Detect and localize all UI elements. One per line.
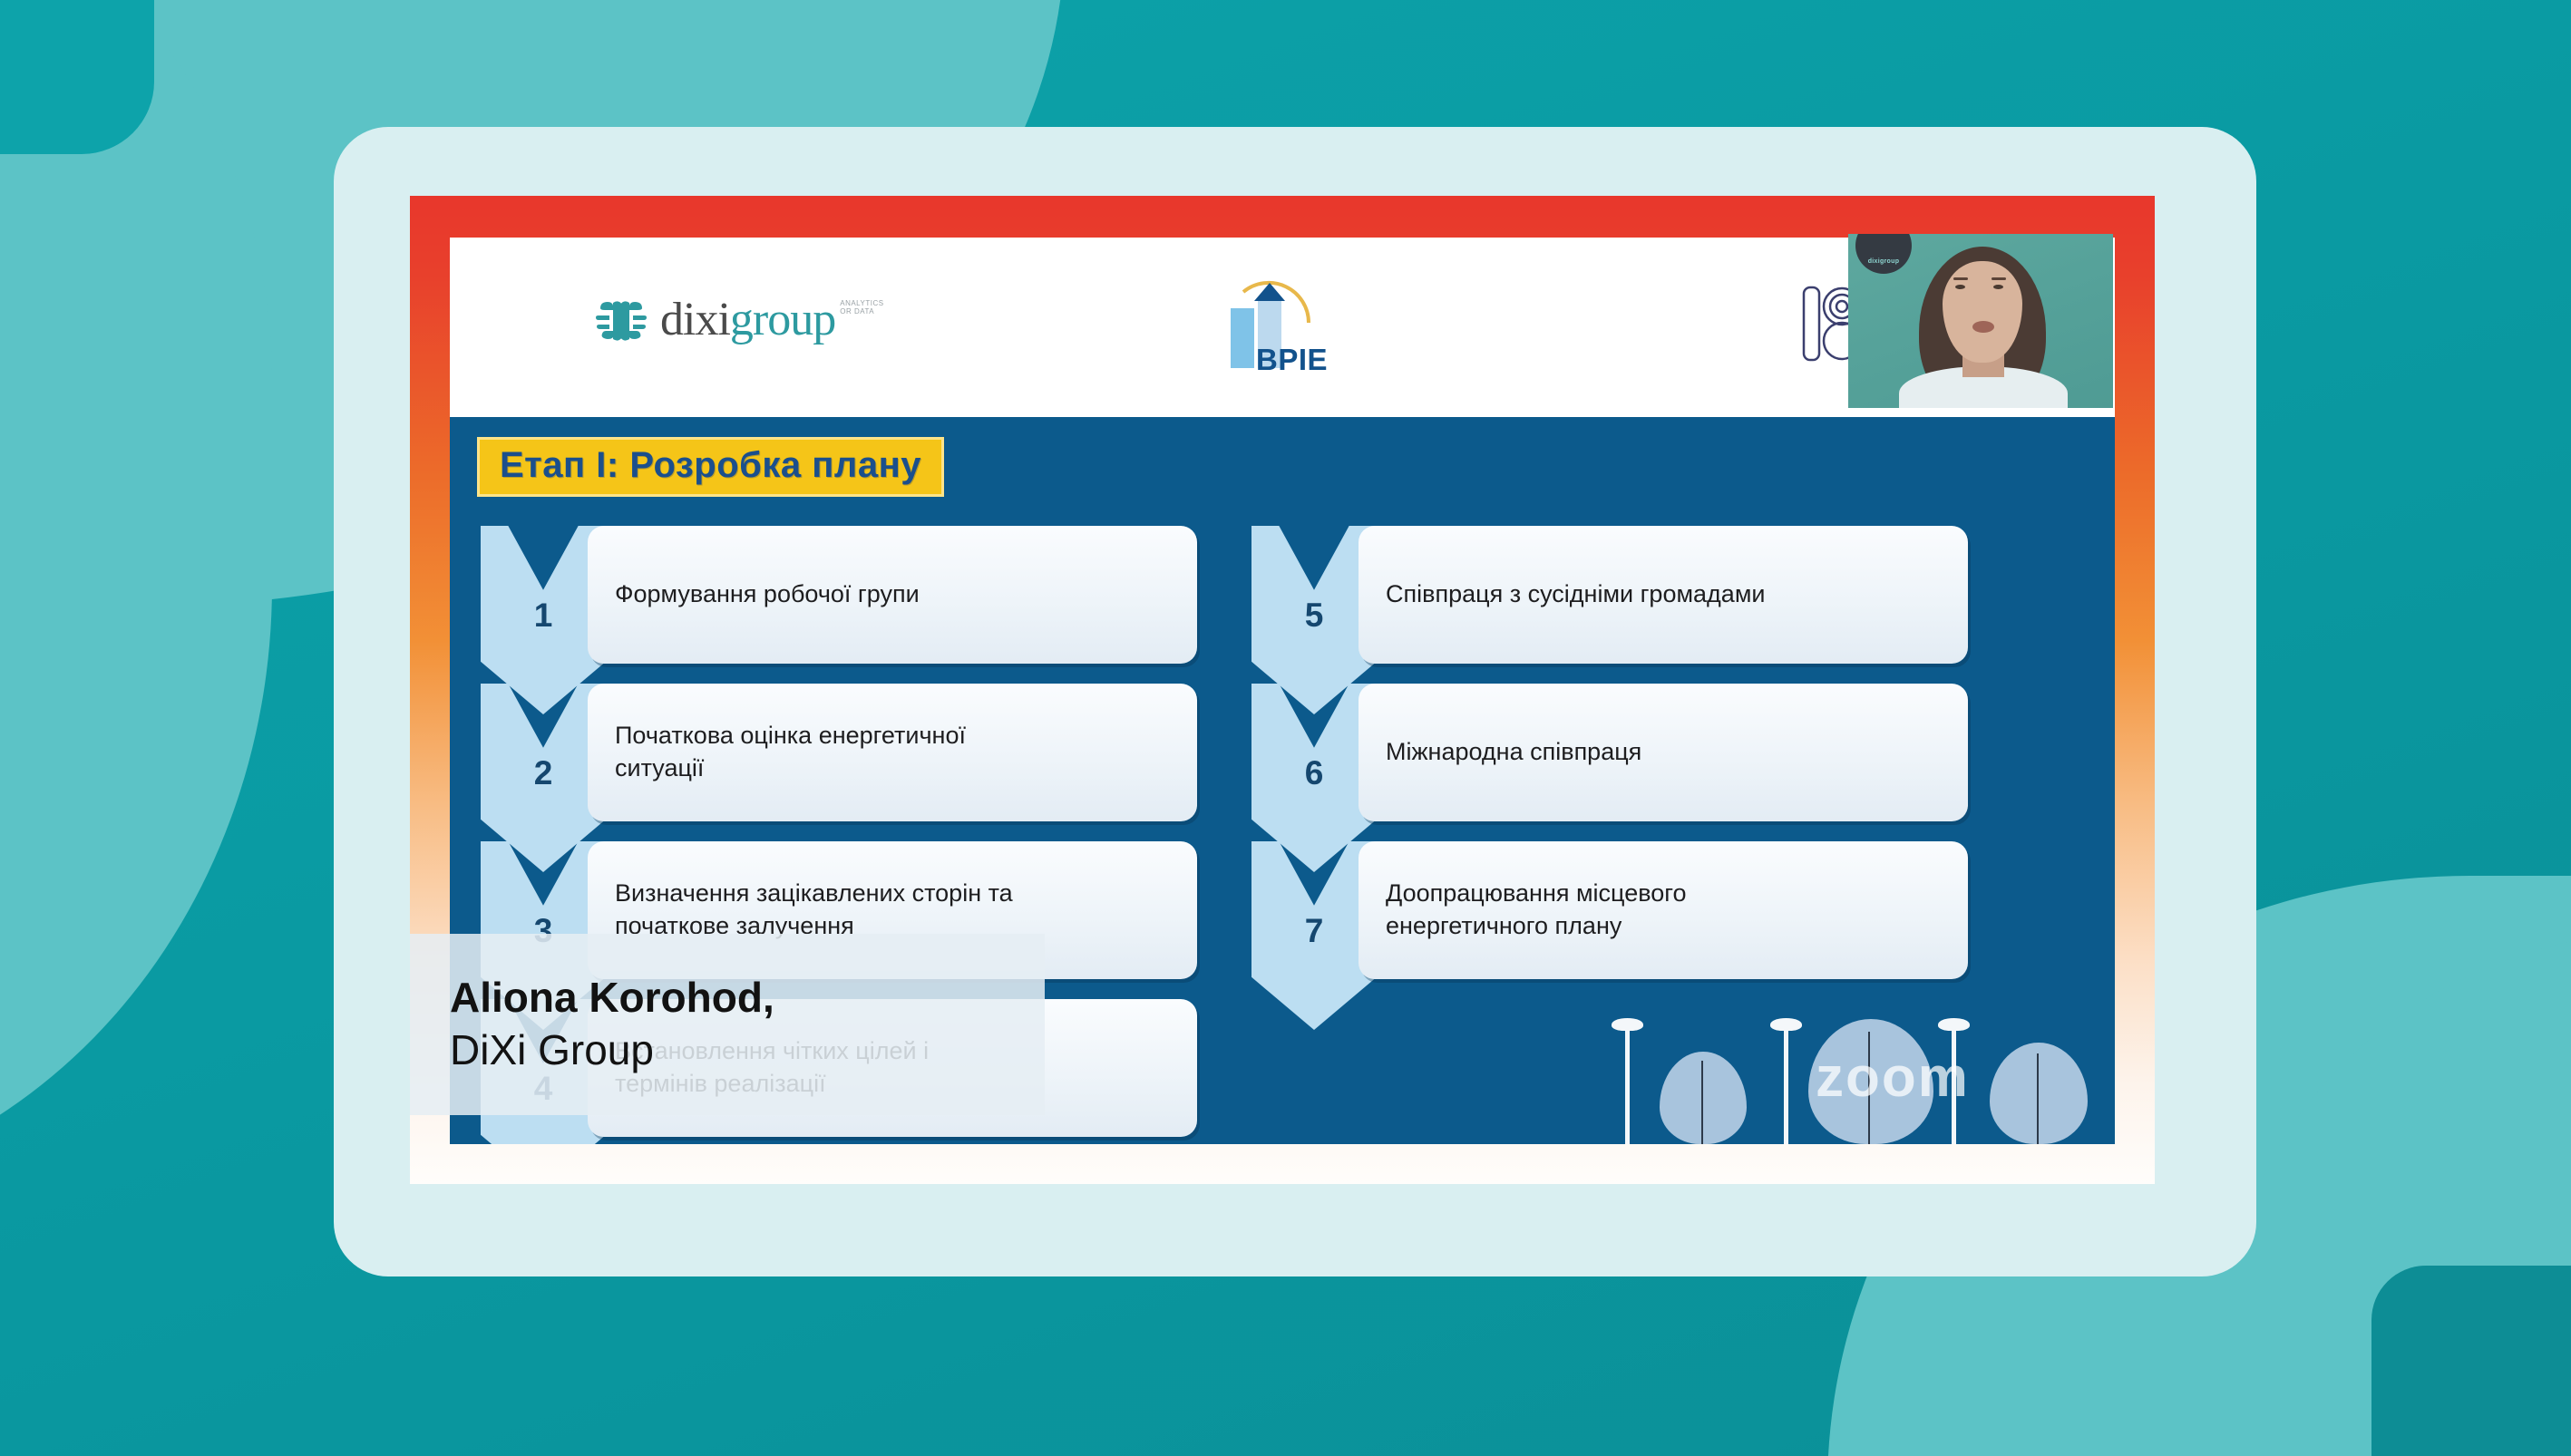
step-label: Співпраця з сусідніми громадами xyxy=(1359,578,1788,611)
page-title: Етап I: Розробка плану xyxy=(500,445,921,486)
background-blob-top-left-2 xyxy=(0,0,272,1197)
tree-icon xyxy=(1660,1052,1747,1144)
participant-mouth xyxy=(1972,321,1994,333)
tree-icon xyxy=(1808,1019,1933,1144)
bpie-wordmark: BPIE xyxy=(1256,343,1328,377)
flow-step-5: 5 Співпраця з сусідніми громадами xyxy=(1251,526,1977,664)
background-notch-bottom-right xyxy=(2371,1266,2571,1456)
tree-trunk-icon xyxy=(1868,1032,1870,1144)
dixigroup-wordmark: dixigroupANALYTICS OR DATA xyxy=(660,296,884,344)
tree-trunk-icon xyxy=(1701,1061,1703,1144)
step-label: Визначення зацікавлених сторін та початк… xyxy=(588,878,1037,942)
dixigroup-word-group: group xyxy=(730,294,835,345)
step-label: Початкова оцінка енергетичної ситуації xyxy=(588,720,989,784)
background-blob-bottom-right-2 xyxy=(2226,930,2571,1456)
streetlamp-icon xyxy=(1952,1024,1956,1144)
step-label: Міжнародна співпраця xyxy=(1359,736,1665,769)
dixigroup-badge-icon: dixigroup xyxy=(1855,234,1912,274)
dixigroup-tagline: ANALYTICS OR DATA xyxy=(840,300,883,316)
dixigroup-logo: dixigroupANALYTICS OR DATA xyxy=(595,294,884,346)
step-card: Міжнародна співпраця xyxy=(1359,684,1968,821)
participant-eye-right xyxy=(1993,285,2003,289)
flow-step-1: 1 Формування робочої групи xyxy=(481,526,1206,664)
participant-eyebrow-right xyxy=(1992,277,2006,280)
step-card: Початкова оцінка енергетичної ситуації xyxy=(588,684,1197,821)
speaker-name: Aliona Korohod, xyxy=(450,974,1045,1022)
dixigroup-brain-icon xyxy=(595,294,648,346)
slide-decoration: zoom xyxy=(1598,990,2106,1144)
participant-eyebrow-left xyxy=(1953,277,1968,280)
streetlamp-icon xyxy=(1625,1024,1630,1144)
streetlamp-icon xyxy=(1784,1024,1788,1144)
flow-step-2: 2 Початкова оцінка енергетичної ситуації xyxy=(481,684,1206,821)
zoom-watermark: zoom xyxy=(1816,1045,1970,1110)
step-card: Формування робочої групи xyxy=(588,526,1197,664)
speaker-organization: DiXi Group xyxy=(450,1025,1045,1075)
bpie-logo: BPIE xyxy=(1225,276,1361,375)
flow-column-right: 5 Співпраця з сусідніми громадами 6 Міжн… xyxy=(1251,526,1977,979)
tree-trunk-icon xyxy=(2037,1053,2039,1144)
flow-step-6: 6 Міжнародна співпраця xyxy=(1251,684,1977,821)
step-label: Доопрацювання місцевого енергетичного пл… xyxy=(1359,878,1710,942)
step-card: Доопрацювання місцевого енергетичного пл… xyxy=(1359,841,1968,979)
step-label: Формування робочої групи xyxy=(588,578,943,611)
slide-title-banner: Етап I: Розробка плану xyxy=(477,437,944,497)
dixigroup-word-dixi: dixi xyxy=(660,294,730,345)
speaker-name-overlay: Aliona Korohod, DiXi Group xyxy=(410,934,1045,1115)
flow-step-7: 7 Доопрацювання місцевого енергетичного … xyxy=(1251,841,1977,979)
participant-video-tile[interactable]: dixigroup xyxy=(1848,234,2113,408)
tree-icon xyxy=(1990,1043,2088,1144)
screenshot-stage: dixigroupANALYTICS OR DATA BPIE xyxy=(0,0,2571,1456)
video-badge-label: dixigroup xyxy=(1868,258,1900,265)
background-notch-top-left xyxy=(0,0,154,154)
step-card: Співпраця з сусідніми громадами xyxy=(1359,526,1968,664)
participant-eye-left xyxy=(1955,285,1965,289)
